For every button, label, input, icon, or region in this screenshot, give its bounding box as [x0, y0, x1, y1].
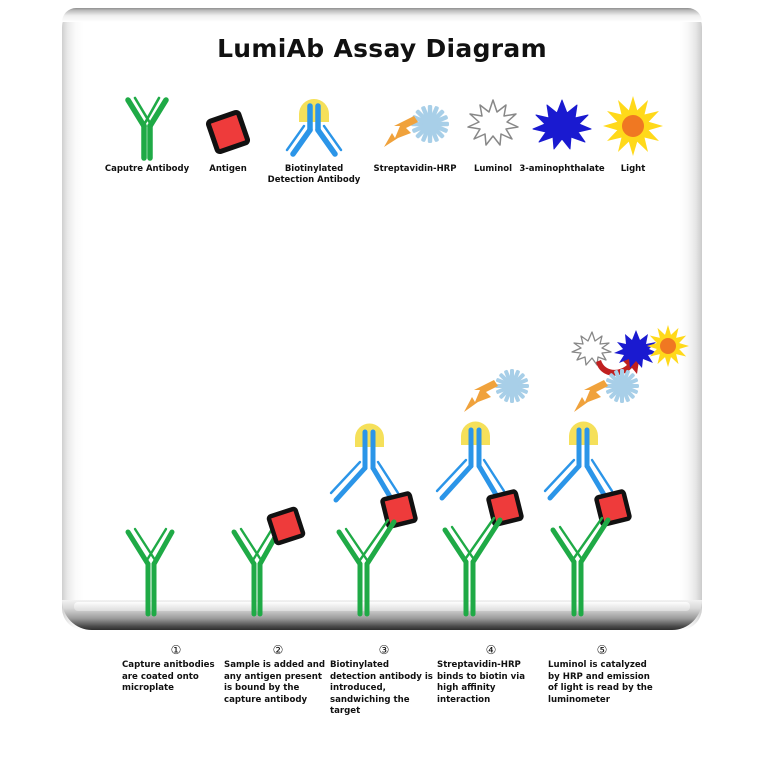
legend-label: Luminol [462, 164, 524, 175]
step-number: ⑤ [548, 643, 656, 657]
light-icon [603, 92, 663, 164]
biotinylated-detection-antibody-icon [263, 92, 365, 164]
legend-item-streptavidin-hrp: Streptavidin-HRP [370, 92, 460, 175]
step-caption-2: ② Sample is added and any antigen presen… [224, 643, 332, 706]
step-number: ② [224, 643, 332, 657]
step-text: Luminol is catalyzed by HRP and emission… [548, 660, 656, 706]
legend-item-antigen: Antigen [191, 92, 265, 175]
step-text: Biotinylated detection antibody is intro… [330, 660, 438, 718]
step-text: Streptavidin-HRP binds to biotin via hig… [437, 660, 545, 706]
legend-item-capture-antibody: Caputre Antibody [100, 92, 194, 175]
legend-item-biotinylated-detection-antibody: Biotinylated Detection Antibody [263, 92, 365, 186]
step-caption-1: ① Capture anitbodies are coated onto mic… [122, 643, 230, 695]
capture-antibody-shape [445, 520, 500, 614]
assay-stage-2 [216, 512, 312, 764]
step-number: ④ [437, 643, 545, 657]
step-number: ① [122, 643, 230, 657]
legend-label: Caputre Antibody [100, 164, 194, 175]
legend-label: Streptavidin-HRP [370, 164, 460, 175]
assay-stage-1 [110, 520, 194, 764]
legend-label: Light [603, 164, 663, 175]
antigen-icon [191, 92, 265, 164]
biotin-cap-shape [355, 424, 384, 448]
capture-antibody-shape [553, 520, 608, 614]
capture-antibody-shape [128, 532, 172, 614]
page-title: LumiAb Assay Diagram [0, 34, 764, 63]
legend-label: Biotinylated Detection Antibody [263, 164, 365, 186]
legend-item-aminophthalate: 3-aminophthalate [516, 92, 608, 175]
legend-item-luminol: Luminol [462, 92, 524, 175]
luminol-shape [572, 332, 611, 365]
step-text: Sample is added and any antigen present … [224, 660, 332, 706]
aminophthalate-icon [516, 92, 608, 164]
legend-label: 3-aminophthalate [516, 164, 608, 175]
biotin-cap-shape [461, 422, 490, 446]
step-number: ③ [330, 643, 438, 657]
step-text: Capture anitbodies are coated onto micro… [122, 660, 230, 695]
antigen-shape [268, 508, 303, 543]
legend-item-light: Light [603, 92, 663, 175]
capture-antibody-shape [339, 522, 394, 614]
streptavidin-hrp-shape [574, 369, 639, 412]
biotin-cap-shape [569, 422, 598, 446]
plate-rim [62, 8, 702, 22]
streptavidin-hrp-icon [370, 92, 460, 164]
luminol-icon [462, 92, 524, 164]
step-caption-3: ③ Biotinylated detection antibody is int… [330, 643, 438, 718]
plate-wall-left [62, 8, 84, 630]
step-caption-4: ④ Streptavidin-HRP binds to biotin via h… [437, 643, 545, 706]
legend-label: Antigen [191, 164, 265, 175]
light-shape [647, 325, 689, 367]
capture-antibody-shape [234, 532, 278, 614]
capture-antibody-icon [100, 92, 194, 164]
streptavidin-hrp-shape [464, 369, 529, 412]
step-caption-5: ⑤ Luminol is catalyzed by HRP and emissi… [548, 643, 656, 706]
